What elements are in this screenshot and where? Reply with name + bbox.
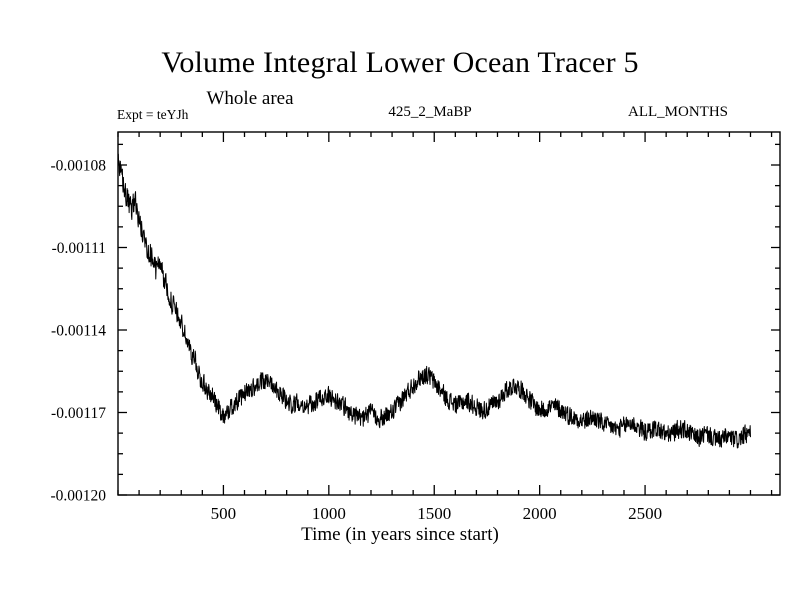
plot-svg: -0.00108-0.00111-0.00114-0.00117-0.00120… <box>0 0 800 600</box>
plot-area: -0.00108-0.00111-0.00114-0.00117-0.00120… <box>0 0 800 600</box>
x-tick-label: 1000 <box>312 504 346 523</box>
x-tick-label: 1500 <box>417 504 451 523</box>
x-tick-label: 500 <box>211 504 237 523</box>
axis-frame <box>118 132 780 495</box>
y-axis-tick-labels: -0.00108-0.00111-0.00114-0.00117-0.00120 <box>50 158 106 505</box>
y-tick-label: -0.00117 <box>51 405 106 422</box>
y-tick-label: -0.00120 <box>50 488 106 505</box>
x-axis-ticks <box>118 132 772 495</box>
x-axis-label: Time (in years since start) <box>0 524 800 546</box>
series-path <box>118 154 750 448</box>
x-axis-tick-labels: 5001000150020002500 <box>211 504 662 523</box>
y-axis-ticks <box>118 144 780 495</box>
x-tick-label: 2000 <box>523 504 557 523</box>
data-series-line <box>118 154 750 448</box>
y-tick-label: -0.00108 <box>50 158 106 175</box>
chart-page: Volume Integral Lower Ocean Tracer 5 Who… <box>0 0 800 600</box>
x-tick-label: 2500 <box>628 504 662 523</box>
y-tick-label: -0.00114 <box>51 323 106 340</box>
y-tick-label: -0.00111 <box>52 240 106 257</box>
